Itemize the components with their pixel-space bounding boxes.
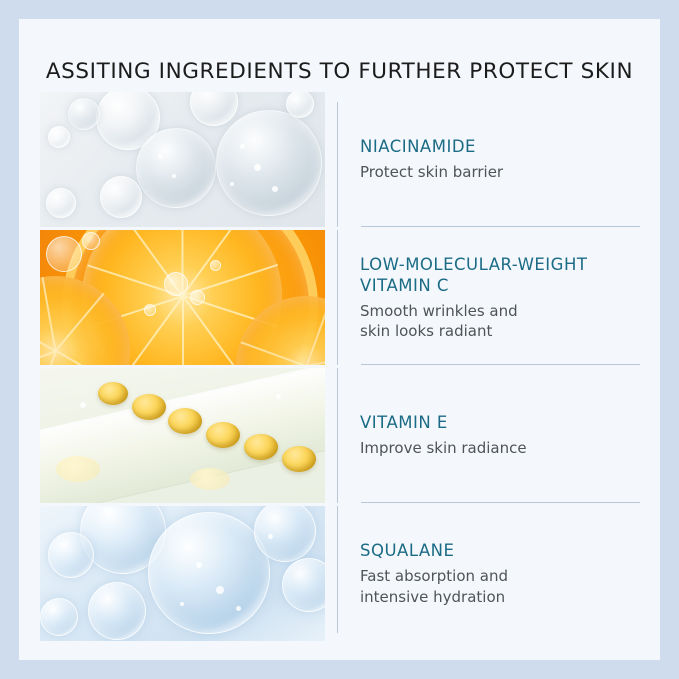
- row-divider: [361, 502, 640, 503]
- ingredient-image-vitamin-e: [40, 368, 325, 503]
- connector-line: [325, 230, 349, 365]
- ingredient-image-vitamin-c: [40, 230, 325, 365]
- ingredient-image-niacinamide: [40, 92, 325, 227]
- yellow-capsules-photo: [40, 368, 325, 503]
- ingredient-name: NIACINAMIDE: [360, 136, 640, 157]
- ingredient-description: Smooth wrinkles and skin looks radiant: [360, 301, 640, 342]
- ingredient-text-niacinamide: NIACINAMIDE Protect skin barrier: [349, 92, 640, 227]
- grey-bubbles-photo: [40, 92, 325, 227]
- info-card: ASSITING INGREDIENTS TO FURTHER PROTECT …: [19, 19, 660, 660]
- ingredient-description: Fast absorption and intensive hydration: [360, 566, 640, 607]
- ingredient-description: Improve skin radiance: [360, 438, 640, 458]
- list-item: VITAMIN E Improve skin radiance: [40, 368, 640, 503]
- connector-line: [325, 92, 349, 227]
- list-item: SQUALANE Fast absorption and intensive h…: [40, 506, 640, 641]
- blue-gel-bubbles-photo: [40, 506, 325, 641]
- connector-line: [325, 368, 349, 503]
- ingredient-name: VITAMIN E: [360, 412, 640, 433]
- row-divider: [361, 226, 640, 227]
- ingredient-text-squalane: SQUALANE Fast absorption and intensive h…: [349, 506, 640, 641]
- ingredient-text-vitamin-e: VITAMIN E Improve skin radiance: [349, 368, 640, 503]
- ingredient-image-squalane: [40, 506, 325, 641]
- ingredient-text-vitamin-c: LOW-MOLECULAR-WEIGHT VITAMIN C Smooth wr…: [349, 230, 640, 365]
- row-divider: [361, 364, 640, 365]
- ingredient-name: SQUALANE: [360, 540, 640, 561]
- ingredient-name: LOW-MOLECULAR-WEIGHT VITAMIN C: [360, 254, 640, 296]
- list-item: NIACINAMIDE Protect skin barrier: [40, 92, 640, 227]
- connector-line: [325, 506, 349, 641]
- ingredient-description: Protect skin barrier: [360, 162, 640, 182]
- page-title: ASSITING INGREDIENTS TO FURTHER PROTECT …: [19, 59, 660, 84]
- ingredient-list: NIACINAMIDE Protect skin barrier: [40, 92, 640, 644]
- orange-slices-photo: [40, 230, 325, 365]
- list-item: LOW-MOLECULAR-WEIGHT VITAMIN C Smooth wr…: [40, 230, 640, 365]
